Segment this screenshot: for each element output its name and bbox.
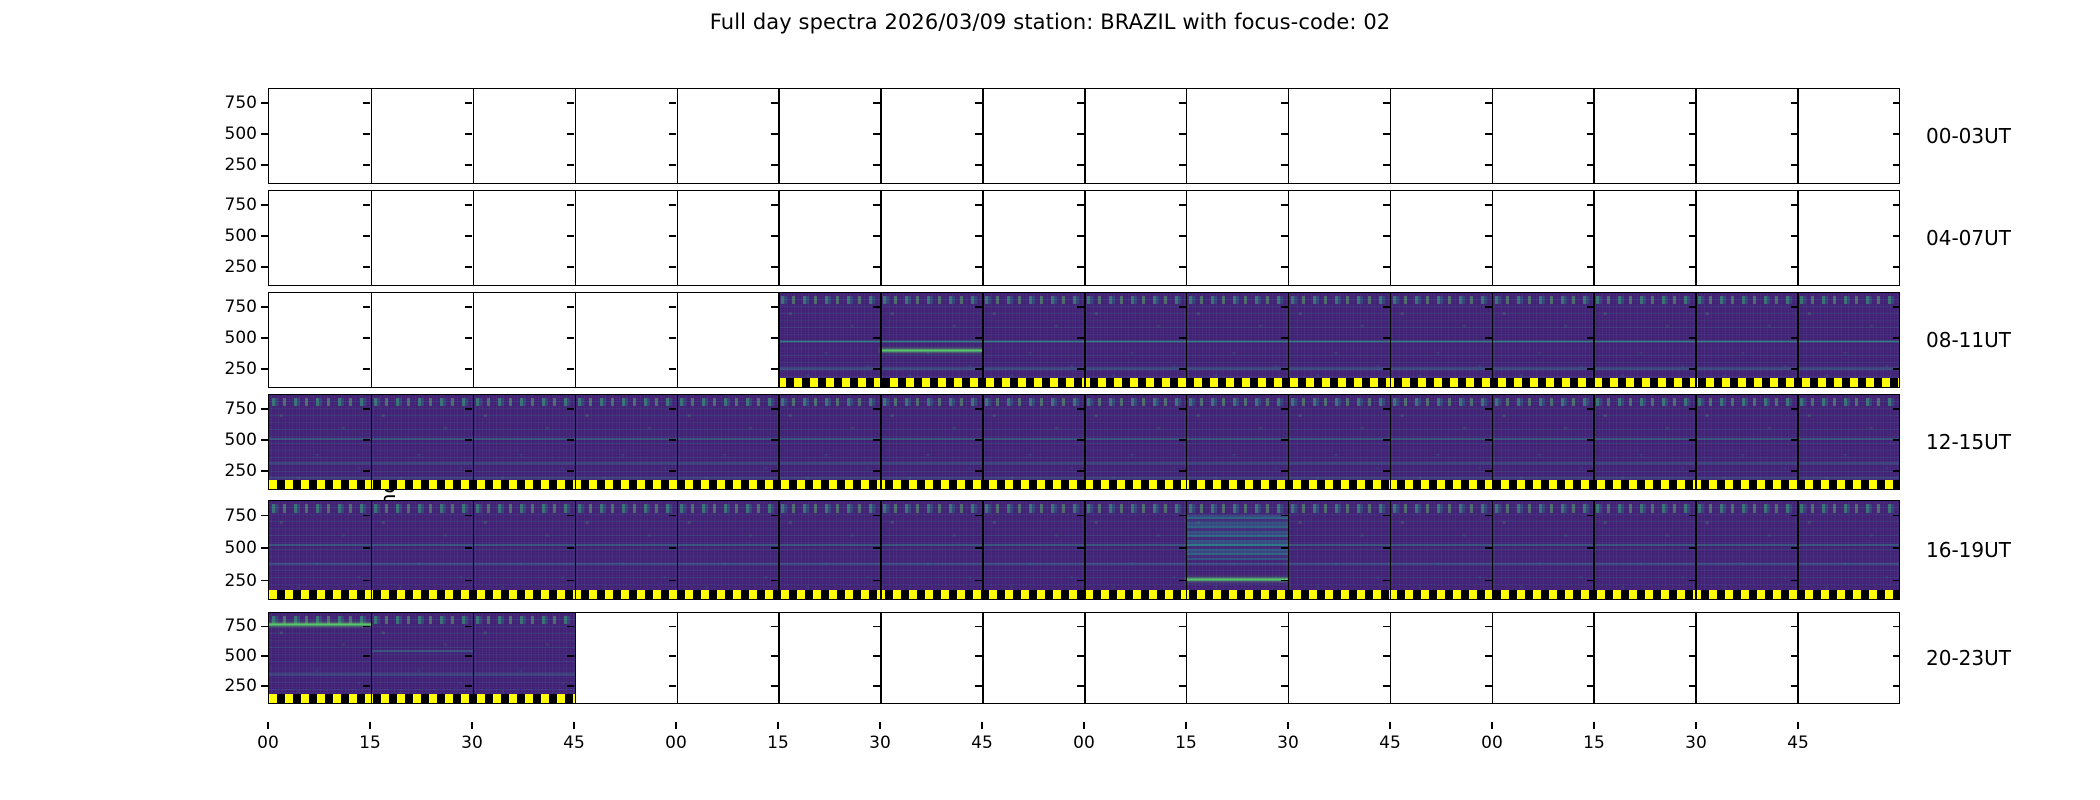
y-tick-inner bbox=[771, 470, 778, 472]
spectrogram-cell[interactable] bbox=[1084, 191, 1186, 285]
spectrogram-cell[interactable] bbox=[1390, 89, 1492, 183]
y-tick-label: 750 bbox=[225, 506, 257, 526]
cell-separator bbox=[880, 89, 882, 183]
y-tick-inner bbox=[1689, 133, 1696, 135]
spectrogram-cell[interactable] bbox=[1593, 613, 1695, 703]
spectrogram-cell[interactable] bbox=[1288, 89, 1390, 183]
spectra-speckle bbox=[880, 501, 982, 599]
y-tick-inner bbox=[1893, 470, 1900, 472]
spectrogram-cell[interactable] bbox=[269, 191, 371, 285]
y-tick-inner bbox=[1485, 547, 1492, 549]
y-tick-inner bbox=[1281, 408, 1288, 410]
y-tick-inner bbox=[1281, 306, 1288, 308]
cell-separator bbox=[1084, 395, 1086, 489]
spectra-top-band bbox=[1695, 504, 1797, 513]
cell-separator bbox=[473, 191, 475, 285]
y-tick-inner bbox=[567, 626, 574, 628]
y-tick-label: 250 bbox=[225, 155, 257, 175]
y-tick-inner bbox=[1485, 164, 1492, 166]
spectra-speckle bbox=[1695, 501, 1797, 599]
y-tick-inner bbox=[1485, 626, 1492, 628]
x-tick bbox=[1287, 722, 1289, 729]
y-tick-inner bbox=[873, 580, 880, 582]
spectrogram-cell[interactable] bbox=[1695, 191, 1797, 285]
y-tick-inner bbox=[465, 235, 472, 237]
y-tick-inner bbox=[1689, 515, 1696, 517]
y-tick-inner bbox=[669, 547, 676, 549]
y-tick-inner bbox=[465, 408, 472, 410]
x-tick bbox=[1083, 722, 1085, 729]
spectrogram-cell[interactable] bbox=[371, 293, 473, 387]
y-tick-inner bbox=[975, 685, 982, 687]
spectra-top-band bbox=[880, 398, 982, 406]
spectrogram-cell[interactable] bbox=[880, 89, 982, 183]
y-tick-inner bbox=[1383, 580, 1390, 582]
y-tick bbox=[261, 515, 268, 517]
spectra-speckle bbox=[1084, 501, 1186, 599]
spectrogram-cell[interactable] bbox=[575, 293, 677, 387]
y-tick-inner bbox=[1077, 470, 1084, 472]
y-tick-inner bbox=[975, 164, 982, 166]
spectrogram-cell[interactable] bbox=[575, 191, 677, 285]
spectrogram-cell[interactable] bbox=[473, 613, 575, 703]
spectrogram-cell[interactable] bbox=[1186, 89, 1288, 183]
y-tick-label: 750 bbox=[225, 399, 257, 419]
spectra-top-band bbox=[371, 398, 473, 406]
y-tick-inner bbox=[1791, 235, 1798, 237]
spectrogram-cell[interactable] bbox=[880, 613, 982, 703]
x-tick-label: 15 bbox=[1583, 733, 1605, 753]
y-tick-inner bbox=[1893, 164, 1900, 166]
y-tick-label: 500 bbox=[225, 328, 257, 348]
y-tick-inner bbox=[1383, 626, 1390, 628]
y-tick-inner bbox=[873, 204, 880, 206]
y-tick-inner bbox=[465, 133, 472, 135]
y-tick-inner bbox=[771, 164, 778, 166]
y-tick-inner bbox=[975, 547, 982, 549]
y-tick-inner bbox=[669, 337, 676, 339]
y-tick-inner bbox=[1383, 306, 1390, 308]
y-tick-inner bbox=[1893, 626, 1900, 628]
y-tick-inner bbox=[1383, 368, 1390, 370]
spectrogram-cell[interactable] bbox=[1695, 501, 1797, 599]
spectrogram-cell[interactable] bbox=[1084, 613, 1186, 703]
y-tick-inner bbox=[1179, 235, 1186, 237]
y-tick-inner bbox=[1281, 204, 1288, 206]
spectrogram-cell[interactable] bbox=[1288, 191, 1390, 285]
spectrogram-cell[interactable] bbox=[778, 613, 880, 703]
y-tick bbox=[261, 266, 268, 268]
y-tick-inner bbox=[465, 547, 472, 549]
y-tick-inner bbox=[669, 626, 676, 628]
spectrogram-cell[interactable] bbox=[1492, 89, 1594, 183]
spectrogram-cell[interactable] bbox=[371, 613, 473, 703]
spectrogram-cell[interactable] bbox=[1593, 89, 1695, 183]
cell-separator bbox=[1186, 89, 1188, 183]
y-tick-inner bbox=[1179, 408, 1186, 410]
y-tick-inner bbox=[1281, 655, 1288, 657]
spectrogram-cell[interactable] bbox=[1492, 613, 1594, 703]
cell-separator bbox=[473, 613, 475, 703]
spectrogram-cell[interactable] bbox=[982, 89, 1084, 183]
spectrogram-cell[interactable] bbox=[1288, 501, 1390, 599]
spectrogram-cell[interactable] bbox=[269, 293, 371, 387]
y-tick-inner bbox=[1281, 164, 1288, 166]
y-tick-inner bbox=[975, 655, 982, 657]
spectrogram-cell[interactable] bbox=[473, 89, 575, 183]
row-label: 00-03UT bbox=[1926, 124, 2011, 148]
y-tick-inner bbox=[363, 102, 370, 104]
y-tick-label: 750 bbox=[225, 297, 257, 317]
spectra-top-band bbox=[1288, 398, 1390, 406]
y-tick-inner bbox=[1791, 133, 1798, 135]
cell-separator bbox=[1084, 501, 1086, 599]
y-tick-inner bbox=[873, 368, 880, 370]
cell-separator bbox=[778, 501, 780, 599]
y-tick-inner bbox=[669, 164, 676, 166]
y-tick-inner bbox=[1689, 266, 1696, 268]
spectra-top-band bbox=[982, 504, 1084, 513]
spectrogram-cell[interactable] bbox=[473, 501, 575, 599]
spectral-band bbox=[371, 650, 473, 652]
y-tick-inner bbox=[567, 235, 574, 237]
page-title: Full day spectra 2026/03/09 station: BRA… bbox=[0, 10, 2100, 34]
spectrogram-cell[interactable] bbox=[1797, 613, 1899, 703]
x-tick-label: 30 bbox=[461, 733, 483, 753]
y-tick-inner bbox=[1281, 439, 1288, 441]
y-tick-inner bbox=[1179, 204, 1186, 206]
cell-separator bbox=[677, 89, 679, 183]
x-tick bbox=[471, 722, 473, 729]
spectrogram-cell[interactable] bbox=[982, 613, 1084, 703]
y-tick-inner bbox=[771, 515, 778, 517]
y-tick-inner bbox=[1179, 439, 1186, 441]
y-tick-inner bbox=[975, 266, 982, 268]
spectra-top-band bbox=[778, 296, 880, 304]
spectrogram-cell[interactable] bbox=[1492, 501, 1594, 599]
y-tick-inner bbox=[363, 368, 370, 370]
spectrogram-cell[interactable] bbox=[1593, 501, 1695, 599]
y-tick-inner bbox=[1485, 368, 1492, 370]
spectrogram-cell[interactable] bbox=[1593, 191, 1695, 285]
x-tick bbox=[675, 722, 677, 729]
y-tick-label: 250 bbox=[225, 676, 257, 696]
spectrogram-cell[interactable] bbox=[677, 191, 779, 285]
y-tick-inner bbox=[1893, 547, 1900, 549]
y-tick-inner bbox=[567, 515, 574, 517]
y-tick-inner bbox=[1689, 439, 1696, 441]
y-tick bbox=[261, 470, 268, 472]
y-tick-inner bbox=[771, 368, 778, 370]
y-tick-inner bbox=[1587, 306, 1594, 308]
spectrogram-cell[interactable] bbox=[677, 613, 779, 703]
spectrogram-cell[interactable] bbox=[1084, 501, 1186, 599]
y-tick-inner bbox=[669, 266, 676, 268]
spectrogram-cell[interactable] bbox=[371, 191, 473, 285]
spectrogram-cell[interactable] bbox=[982, 191, 1084, 285]
cell-separator bbox=[473, 89, 475, 183]
y-tick-label: 250 bbox=[225, 461, 257, 481]
cell-separator bbox=[677, 191, 679, 285]
emission-line bbox=[1186, 578, 1288, 581]
y-tick bbox=[261, 408, 268, 410]
y-tick-inner bbox=[873, 626, 880, 628]
cell-separator bbox=[371, 613, 373, 703]
y-tick-inner bbox=[363, 547, 370, 549]
y-tick-inner bbox=[1485, 235, 1492, 237]
spectrogram-cell[interactable] bbox=[1084, 89, 1186, 183]
y-tick-inner bbox=[1689, 626, 1696, 628]
spectrogram-cell[interactable] bbox=[575, 501, 677, 599]
spectra-speckle bbox=[473, 613, 575, 703]
y-tick-inner bbox=[975, 470, 982, 472]
emission-line bbox=[880, 349, 982, 352]
spectral-band bbox=[778, 366, 1899, 371]
y-tick-inner bbox=[669, 408, 676, 410]
x-tick bbox=[573, 722, 575, 729]
y-tick-inner bbox=[1791, 626, 1798, 628]
spectra-top-band bbox=[1186, 504, 1288, 513]
spectra-speckle bbox=[778, 501, 880, 599]
y-tick-inner bbox=[975, 102, 982, 104]
y-tick-inner bbox=[1485, 337, 1492, 339]
spectrogram-cell[interactable] bbox=[1390, 613, 1492, 703]
y-tick-inner bbox=[1893, 306, 1900, 308]
y-tick-inner bbox=[1281, 515, 1288, 517]
y-tick-inner bbox=[1791, 204, 1798, 206]
spectrogram-cell[interactable] bbox=[677, 501, 779, 599]
spectrogram-cell[interactable] bbox=[575, 89, 677, 183]
cell-separator bbox=[1084, 191, 1086, 285]
cell-separator bbox=[1186, 501, 1188, 599]
y-tick-inner bbox=[363, 204, 370, 206]
y-tick-inner bbox=[669, 439, 676, 441]
x-tick-label: 00 bbox=[1073, 733, 1095, 753]
y-tick-inner bbox=[771, 306, 778, 308]
spectra-speckle bbox=[473, 501, 575, 599]
spectrogram-cell[interactable] bbox=[1288, 613, 1390, 703]
y-tick-inner bbox=[1791, 337, 1798, 339]
spectrogram-cell[interactable] bbox=[473, 293, 575, 387]
x-tick bbox=[267, 722, 269, 729]
spectra-top-band bbox=[1084, 504, 1186, 513]
y-tick-inner bbox=[1485, 266, 1492, 268]
y-tick-inner bbox=[669, 470, 676, 472]
spectra-top-band bbox=[1390, 398, 1492, 406]
y-tick-inner bbox=[873, 685, 880, 687]
spectrogram-cell[interactable] bbox=[269, 613, 371, 703]
x-axis: 00153045001530450015304500153045 bbox=[268, 722, 1900, 762]
spectra-speckle bbox=[269, 501, 371, 599]
spectrogram-cell[interactable] bbox=[269, 89, 371, 183]
y-tick bbox=[261, 306, 268, 308]
y-tick bbox=[261, 626, 268, 628]
y-tick-label: 500 bbox=[225, 226, 257, 246]
y-tick-inner bbox=[873, 266, 880, 268]
y-tick-inner bbox=[1587, 547, 1594, 549]
emission-line bbox=[269, 623, 371, 626]
y-tick-inner bbox=[1791, 102, 1798, 104]
y-tick-inner bbox=[1281, 368, 1288, 370]
y-tick-inner bbox=[1587, 235, 1594, 237]
spectral-band bbox=[269, 672, 575, 676]
y-tick-inner bbox=[1587, 368, 1594, 370]
spectrogram-cell[interactable] bbox=[473, 191, 575, 285]
y-tick-inner bbox=[1383, 439, 1390, 441]
cell-separator bbox=[880, 395, 882, 489]
y-tick-inner bbox=[1281, 547, 1288, 549]
cell-separator bbox=[371, 89, 373, 183]
x-tick-label: 00 bbox=[257, 733, 279, 753]
spectra-top-band bbox=[778, 504, 880, 513]
cell-separator bbox=[473, 501, 475, 599]
spectra-top-band bbox=[1593, 504, 1695, 513]
y-tick-inner bbox=[567, 102, 574, 104]
y-tick-inner bbox=[771, 685, 778, 687]
spectra-speckle bbox=[371, 613, 473, 703]
y-tick-inner bbox=[1791, 306, 1798, 308]
subplot-frame bbox=[268, 394, 1900, 490]
y-tick-inner bbox=[363, 164, 370, 166]
spectrogram-cell[interactable] bbox=[1695, 613, 1797, 703]
subplot-frame bbox=[268, 500, 1900, 600]
cell-separator bbox=[778, 613, 780, 703]
spectra-top-band bbox=[1390, 504, 1492, 513]
cell-separator bbox=[1186, 293, 1188, 387]
spectrogram-cell[interactable] bbox=[1186, 191, 1288, 285]
subplot-frame bbox=[268, 190, 1900, 286]
y-tick-inner bbox=[1587, 580, 1594, 582]
y-tick-inner bbox=[1689, 547, 1696, 549]
spectra-top-band bbox=[880, 504, 982, 513]
y-tick-inner bbox=[1587, 685, 1594, 687]
y-tick-inner bbox=[1179, 685, 1186, 687]
spectra-top-band bbox=[982, 296, 1084, 304]
x-tick bbox=[369, 722, 371, 729]
subplot-row: 750500250 bbox=[268, 612, 1900, 704]
spectrogram-cell[interactable] bbox=[1797, 89, 1899, 183]
y-tick-inner bbox=[465, 470, 472, 472]
spectrogram-cell[interactable] bbox=[1492, 191, 1594, 285]
y-tick-inner bbox=[1587, 626, 1594, 628]
y-tick-inner bbox=[975, 337, 982, 339]
spectrogram-cell[interactable] bbox=[1695, 89, 1797, 183]
y-tick-inner bbox=[669, 102, 676, 104]
y-tick-inner bbox=[1077, 266, 1084, 268]
x-tick bbox=[981, 722, 983, 729]
y-tick-inner bbox=[1383, 266, 1390, 268]
data-present-marker bbox=[269, 694, 575, 703]
spectra-speckle bbox=[1593, 501, 1695, 599]
y-tick-inner bbox=[1689, 580, 1696, 582]
spectrogram-cell[interactable] bbox=[371, 89, 473, 183]
y-tick-label: 250 bbox=[225, 359, 257, 379]
y-tick-inner bbox=[1179, 337, 1186, 339]
spectrogram-cell[interactable] bbox=[880, 191, 982, 285]
y-tick-inner bbox=[465, 164, 472, 166]
spectrogram-cell[interactable] bbox=[575, 613, 677, 703]
spectrogram-cell[interactable] bbox=[1390, 191, 1492, 285]
cell-separator bbox=[982, 293, 984, 387]
y-tick-inner bbox=[771, 580, 778, 582]
cell-separator bbox=[677, 613, 679, 703]
y-tick-inner bbox=[363, 580, 370, 582]
y-tick-inner bbox=[771, 133, 778, 135]
y-tick-inner bbox=[363, 626, 370, 628]
spectra-top-band bbox=[473, 504, 575, 513]
y-tick-inner bbox=[1281, 337, 1288, 339]
cell-separator bbox=[473, 293, 475, 387]
spectrogram-cell[interactable] bbox=[677, 89, 779, 183]
spectrogram-cell[interactable] bbox=[778, 191, 880, 285]
y-tick-inner bbox=[975, 580, 982, 582]
spectra-top-band bbox=[1390, 296, 1492, 304]
y-tick-inner bbox=[873, 515, 880, 517]
y-tick-inner bbox=[1791, 408, 1798, 410]
spectrogram-cell[interactable] bbox=[1390, 501, 1492, 599]
y-tick-inner bbox=[1383, 408, 1390, 410]
x-tick bbox=[1797, 722, 1799, 729]
y-tick-inner bbox=[873, 547, 880, 549]
cell-separator bbox=[473, 395, 475, 489]
y-tick-inner bbox=[1179, 102, 1186, 104]
y-tick-inner bbox=[1791, 685, 1798, 687]
spectrogram-cell[interactable] bbox=[1797, 191, 1899, 285]
cell-separator bbox=[575, 191, 577, 285]
spectrogram-cell[interactable] bbox=[778, 501, 880, 599]
y-tick-inner bbox=[1077, 204, 1084, 206]
spectrogram-cell[interactable] bbox=[880, 501, 982, 599]
y-tick-inner bbox=[1893, 102, 1900, 104]
y-tick-inner bbox=[1689, 204, 1696, 206]
spectrogram-cell[interactable] bbox=[269, 501, 371, 599]
spectrogram-cell[interactable] bbox=[1797, 501, 1899, 599]
cell-separator bbox=[982, 613, 984, 703]
spectrogram-cell[interactable] bbox=[778, 89, 880, 183]
cell-separator bbox=[1186, 395, 1188, 489]
y-tick bbox=[261, 164, 268, 166]
spectra-speckle bbox=[982, 501, 1084, 599]
spectrogram-cell[interactable] bbox=[1186, 613, 1288, 703]
y-tick-inner bbox=[1383, 547, 1390, 549]
y-tick-inner bbox=[1077, 164, 1084, 166]
y-tick-inner bbox=[567, 580, 574, 582]
cell-separator bbox=[880, 191, 882, 285]
y-tick-inner bbox=[465, 204, 472, 206]
y-tick-label: 500 bbox=[225, 538, 257, 558]
spectrogram-cell[interactable] bbox=[371, 501, 473, 599]
spectra-top-band bbox=[1695, 398, 1797, 406]
y-tick-inner bbox=[465, 580, 472, 582]
y-tick-inner bbox=[1077, 235, 1084, 237]
y-tick-inner bbox=[1689, 102, 1696, 104]
y-tick-inner bbox=[669, 368, 676, 370]
y-tick-inner bbox=[363, 266, 370, 268]
x-tick-label: 30 bbox=[1685, 733, 1707, 753]
y-tick bbox=[261, 655, 268, 657]
y-tick bbox=[261, 337, 268, 339]
y-tick-inner bbox=[567, 470, 574, 472]
y-tick-label: 500 bbox=[225, 124, 257, 144]
spectra-top-band bbox=[1492, 504, 1594, 513]
y-tick-inner bbox=[1893, 266, 1900, 268]
y-tick-inner bbox=[1281, 102, 1288, 104]
spectrogram-cell[interactable] bbox=[982, 501, 1084, 599]
y-tick-inner bbox=[975, 133, 982, 135]
y-tick-inner bbox=[465, 655, 472, 657]
spectrogram-cell[interactable] bbox=[677, 293, 779, 387]
y-tick-inner bbox=[873, 470, 880, 472]
